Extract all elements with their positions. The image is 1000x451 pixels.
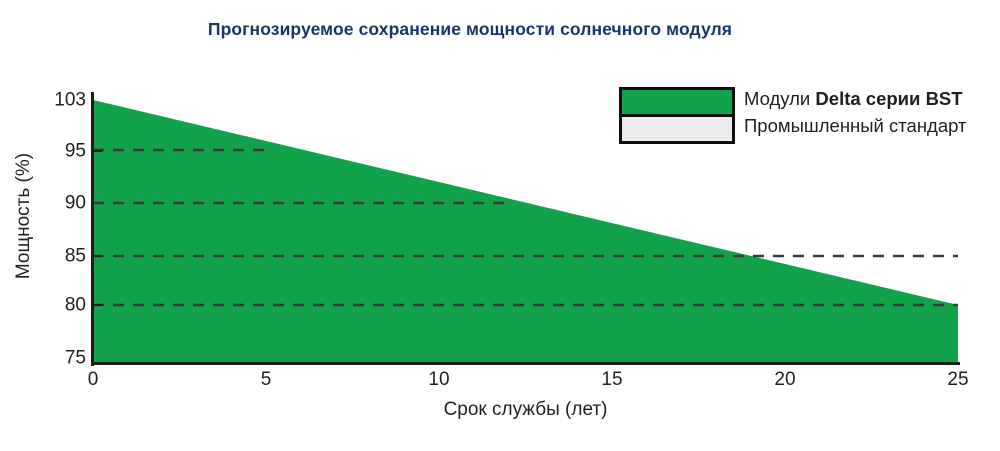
y-tick-label-103: 103 bbox=[44, 91, 86, 110]
y-tick-label-95: 95 bbox=[44, 142, 86, 161]
x-tick-label-10: 10 bbox=[428, 370, 449, 389]
y-tick-mark-95 bbox=[93, 150, 102, 152]
legend-label-industry-standard: Промышленный стандарт bbox=[744, 114, 966, 141]
x-tick-label-15: 15 bbox=[601, 370, 622, 389]
solar-power-retention-chart: Прогнозируемое сохранение мощности солне… bbox=[0, 0, 1000, 451]
legend-label-delta-bst-bold: Delta серии BST bbox=[815, 88, 962, 109]
legend-labels: Модули Delta серии BST Промышленный стан… bbox=[744, 87, 966, 141]
y-tick-label-90: 90 bbox=[44, 194, 86, 213]
y-tick-label-75: 75 bbox=[44, 349, 86, 368]
x-tick-label-0: 0 bbox=[88, 370, 99, 389]
chart-title: Прогнозируемое сохранение мощности солне… bbox=[0, 19, 940, 40]
y-tick-label-85: 85 bbox=[44, 247, 86, 266]
legend-swatch-industry-standard bbox=[622, 114, 732, 141]
y-tick-mark-85 bbox=[93, 255, 102, 257]
x-tick-label-25: 25 bbox=[947, 370, 968, 389]
y-axis-line bbox=[91, 92, 94, 366]
y-tick-label-80: 80 bbox=[44, 296, 86, 315]
x-axis-label: Срок службы (лет) bbox=[93, 399, 958, 421]
x-axis-line bbox=[91, 362, 960, 365]
y-tick-mark-80 bbox=[93, 304, 102, 306]
legend-swatch-delta-bst bbox=[622, 90, 732, 114]
chart-legend: Модули Delta серии BST Промышленный стан… bbox=[619, 87, 966, 144]
y-axis-label: Мощность (%) bbox=[13, 106, 35, 326]
y-axis-ticks: 103 95 90 85 80 75 bbox=[38, 0, 86, 451]
legend-label-delta-bst: Модули Delta серии BST bbox=[744, 87, 966, 114]
x-tick-label-20: 20 bbox=[774, 370, 795, 389]
legend-label-delta-bst-prefix: Модули bbox=[744, 88, 815, 109]
legend-swatch-box bbox=[619, 87, 735, 144]
x-tick-label-5: 5 bbox=[261, 370, 272, 389]
